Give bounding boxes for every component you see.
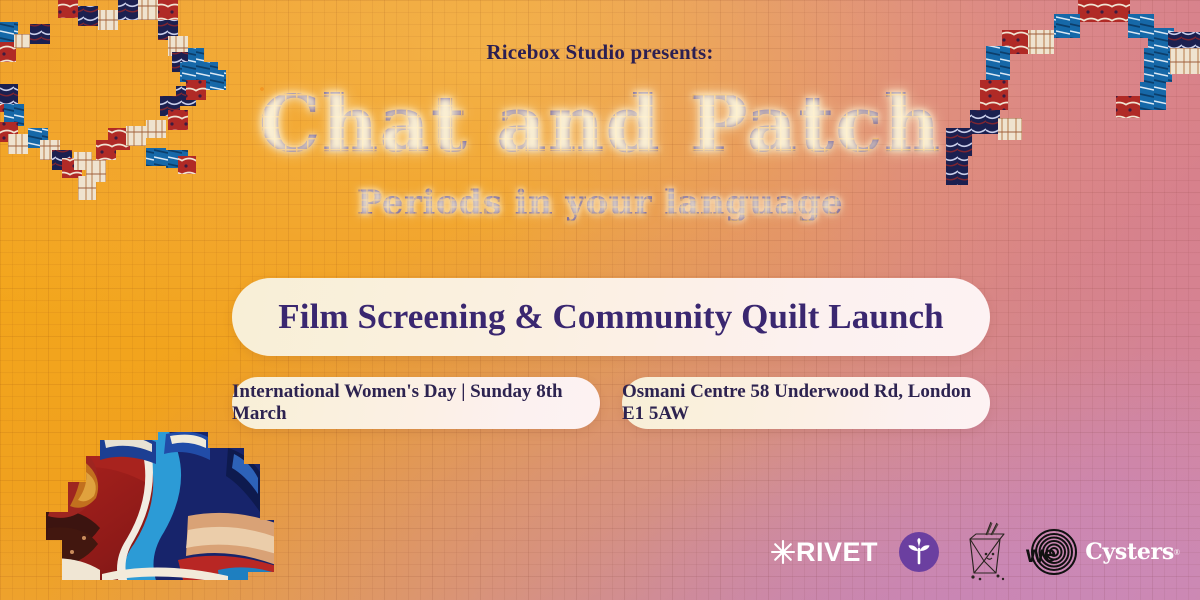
logo-rivet-label: RIVET bbox=[796, 539, 878, 566]
takeout-box-icon bbox=[960, 521, 1010, 583]
date-badge: International Women's Day | Sunday 8th M… bbox=[232, 377, 600, 429]
partner-logos: RIVET bbox=[770, 516, 1180, 588]
event-poster: Ricebox Studio presents: Chat and Patch … bbox=[0, 0, 1200, 600]
venue-text: Osmani Centre 58 Underwood Rd, London E1… bbox=[622, 381, 990, 425]
poster-title-text: Chat and Patch bbox=[259, 79, 942, 170]
logo-we: we bbox=[1030, 529, 1065, 575]
headline-text: Film Screening & Community Quilt Launch bbox=[278, 297, 943, 337]
sprout-icon bbox=[898, 531, 940, 573]
patch-cluster-bottom-left bbox=[38, 420, 288, 600]
poster-title-wrap: Chat and Patch bbox=[0, 86, 1200, 164]
logo-we-label: we bbox=[1024, 541, 1058, 568]
asterisk-icon bbox=[770, 539, 796, 565]
poster-subtitle: Periods in your language bbox=[357, 186, 843, 220]
trademark-icon: ® bbox=[1174, 548, 1180, 557]
poster-subtitle-wrap: Periods in your language bbox=[0, 186, 1200, 220]
poster-subtitle-text: Periods in your language bbox=[357, 183, 843, 223]
logo-rivet: RIVET bbox=[770, 539, 878, 566]
date-text: International Women's Day | Sunday 8th M… bbox=[232, 381, 600, 425]
headline-banner: Film Screening & Community Quilt Launch bbox=[232, 278, 990, 356]
presenter-line: Ricebox Studio presents: bbox=[0, 40, 1200, 65]
logo-sprout-badge bbox=[898, 531, 940, 573]
logo-ricebox bbox=[960, 521, 1010, 583]
logo-cysters-label: Cysters bbox=[1085, 539, 1174, 565]
logo-cysters: Cysters ® bbox=[1085, 539, 1180, 565]
poster-title: Chat and Patch bbox=[259, 86, 942, 164]
venue-badge: Osmani Centre 58 Underwood Rd, London E1… bbox=[622, 377, 990, 429]
